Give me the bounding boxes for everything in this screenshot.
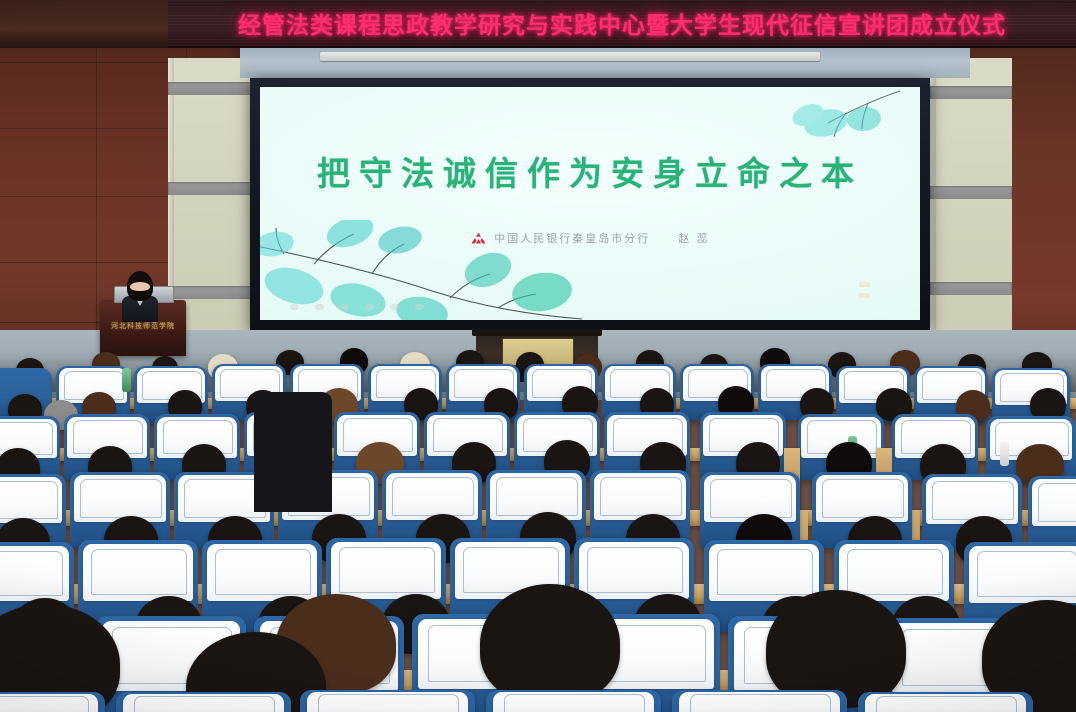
slide-corner-marks: [859, 282, 870, 298]
slide-subtitle: 中国人民银行秦皇岛市分行 赵 蕊: [260, 230, 920, 246]
seat: [858, 692, 1033, 712]
led-banner-text: 经管法类课程思政教学研究与实践中心暨大学生现代征信宣讲团成立仪式: [238, 6, 1006, 40]
projector-screen-valance: [320, 52, 820, 61]
lecture-hall-photo: 经管法类课程思政教学研究与实践中心暨大学生现代征信宣讲团成立仪式: [0, 0, 1076, 712]
slide-subtitle-speaker: 赵 蕊: [678, 230, 710, 246]
slide-subtitle-org: 中国人民银行秦皇岛市分行: [494, 230, 650, 246]
leaf-branch-decor-top-right: [772, 89, 902, 155]
audience-seating: [0, 332, 1076, 712]
seat: [116, 692, 291, 712]
projection-screen: 把守法诚信作为安身立命之本 中国人民银行秦皇岛市分行 赵 蕊: [260, 87, 920, 320]
led-banner: 经管法类课程思政教学研究与实践中心暨大学生现代征信宣讲团成立仪式: [168, 0, 1076, 48]
slide-title: 把守法诚信作为安身立命之本: [260, 147, 920, 195]
water-bottle: [122, 368, 131, 392]
water-bottle: [1000, 442, 1009, 466]
slide-bottom-marks: [290, 304, 424, 310]
presenter: [122, 274, 158, 320]
seat: [300, 690, 475, 712]
projection-screen-frame: 把守法诚信作为安身立命之本 中国人民银行秦皇岛市分行 赵 蕊: [250, 78, 930, 330]
seat: [1028, 476, 1076, 552]
audience-head-foreground: [480, 584, 620, 704]
audience-coat: [254, 392, 332, 512]
seat: [672, 690, 847, 712]
seat: [0, 692, 105, 712]
seat: [486, 690, 661, 712]
pboc-logo: [470, 232, 487, 245]
